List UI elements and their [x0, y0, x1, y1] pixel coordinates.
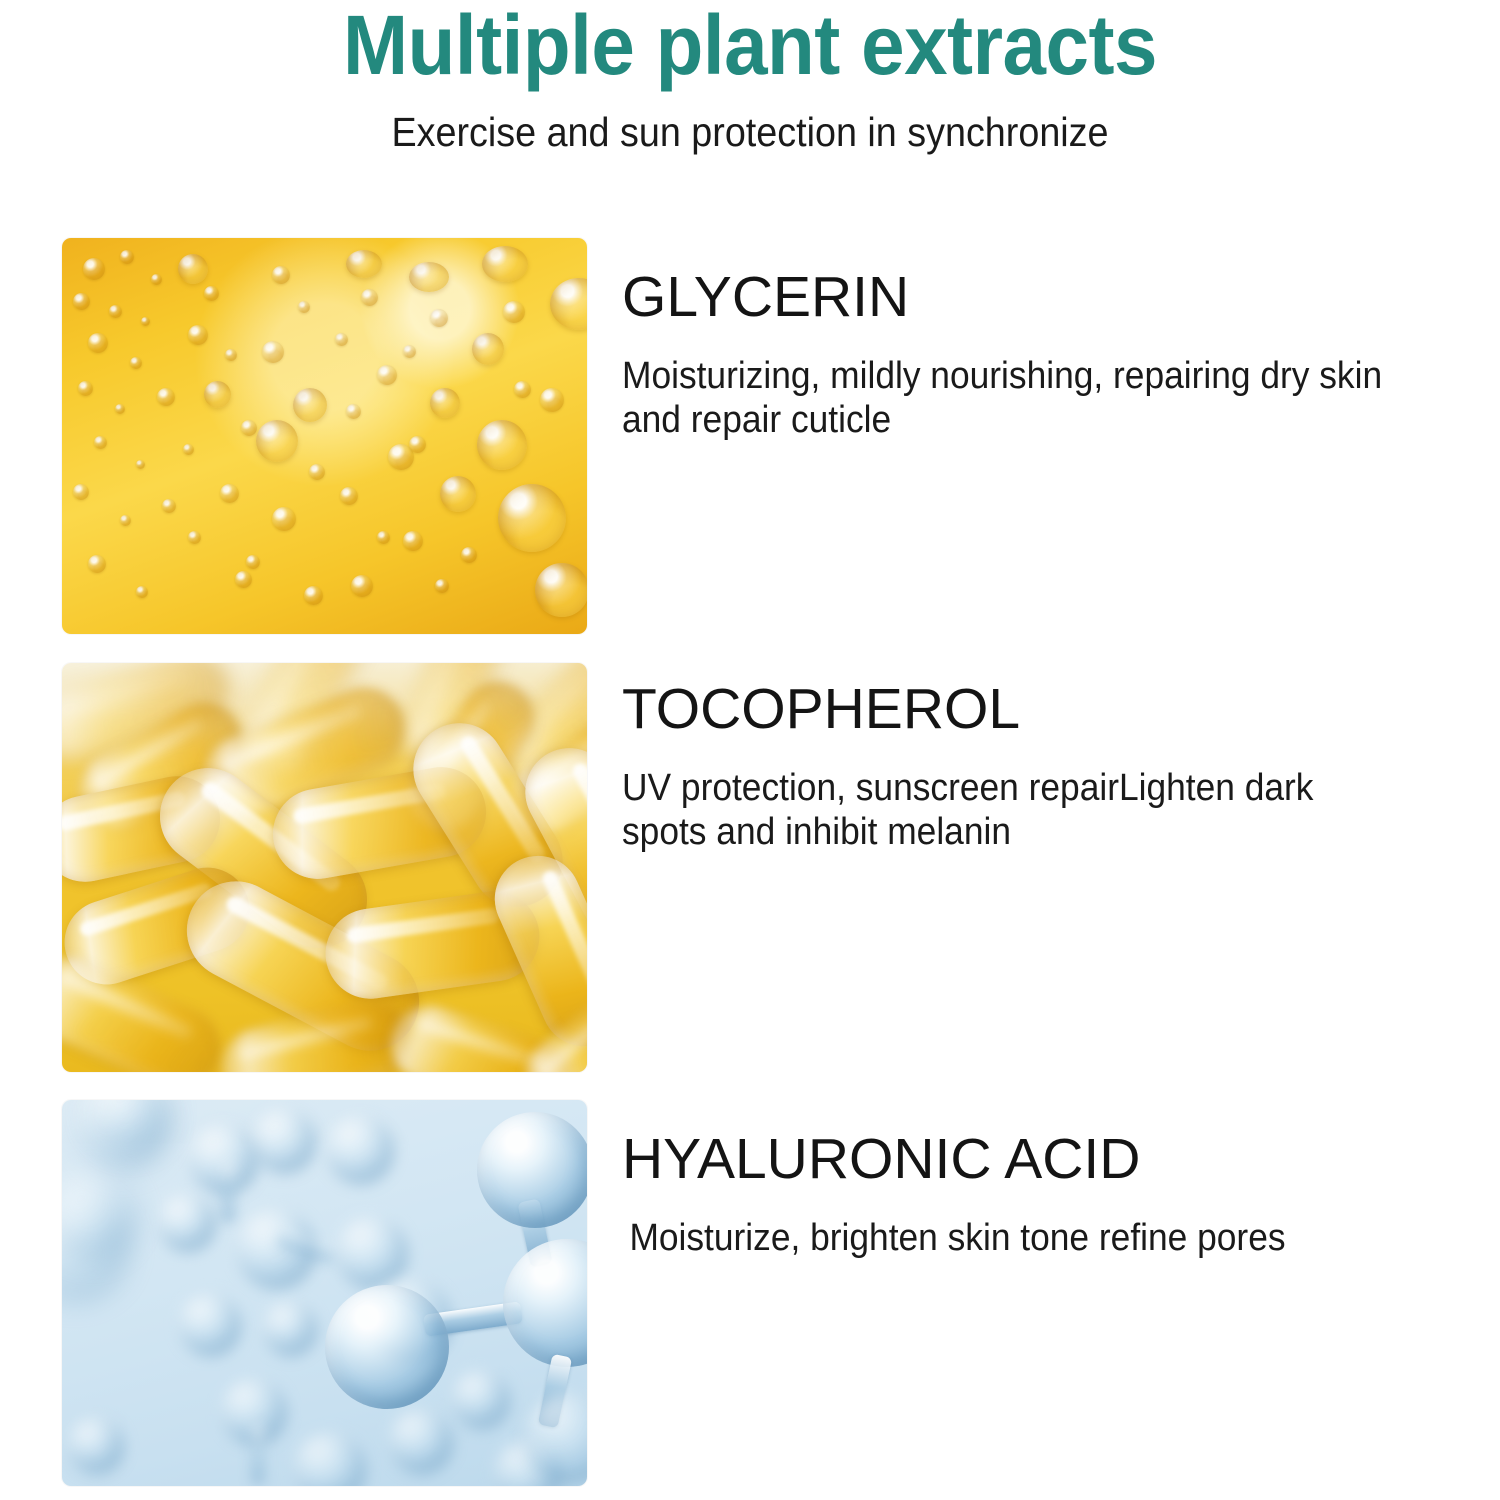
- ingredient-row-tocopherol: TOCOPHEROL UV protection, sunscreen repa…: [0, 663, 1500, 1072]
- ingredient-description: Moisturize, brighten skin tone refine po…: [622, 1190, 1397, 1260]
- ingredient-name: GLYCERIN: [622, 238, 1455, 328]
- ingredient-name: HYALURONIC ACID: [622, 1100, 1455, 1190]
- ingredient-info-glycerin: GLYCERIN Moisturizing, mildly nourishing…: [587, 238, 1500, 442]
- infographic-page: Multiple plant extracts Exercise and sun…: [0, 0, 1500, 1500]
- ingredient-row-hyaluronic-acid: HYALURONIC ACID Moisturize, brighten ski…: [0, 1100, 1500, 1486]
- ingredient-description: Moisturizing, mildly nourishing, repairi…: [622, 328, 1397, 442]
- ingredient-row-glycerin: GLYCERIN Moisturizing, mildly nourishing…: [0, 238, 1500, 634]
- molecule-structure-illustration: [62, 1100, 587, 1486]
- ingredient-info-hyaluronic-acid: HYALURONIC ACID Moisturize, brighten ski…: [587, 1100, 1500, 1260]
- page-title: Multiple plant extracts: [53, 0, 1448, 88]
- oil-bubbles-illustration: [62, 238, 587, 634]
- ingredient-image-hyaluronic-acid: [62, 1100, 587, 1486]
- header: Multiple plant extracts Exercise and sun…: [0, 0, 1500, 154]
- softgel-capsules-illustration: [62, 663, 587, 1072]
- ingredient-description: UV protection, sunscreen repairLighten d…: [622, 740, 1397, 854]
- ingredient-name: TOCOPHEROL: [622, 663, 1455, 740]
- ingredient-image-glycerin: [62, 238, 587, 634]
- ingredient-image-tocopherol: [62, 663, 587, 1072]
- page-subtitle: Exercise and sun protection in synchroni…: [60, 88, 1440, 154]
- ingredient-info-tocopherol: TOCOPHEROL UV protection, sunscreen repa…: [587, 663, 1500, 854]
